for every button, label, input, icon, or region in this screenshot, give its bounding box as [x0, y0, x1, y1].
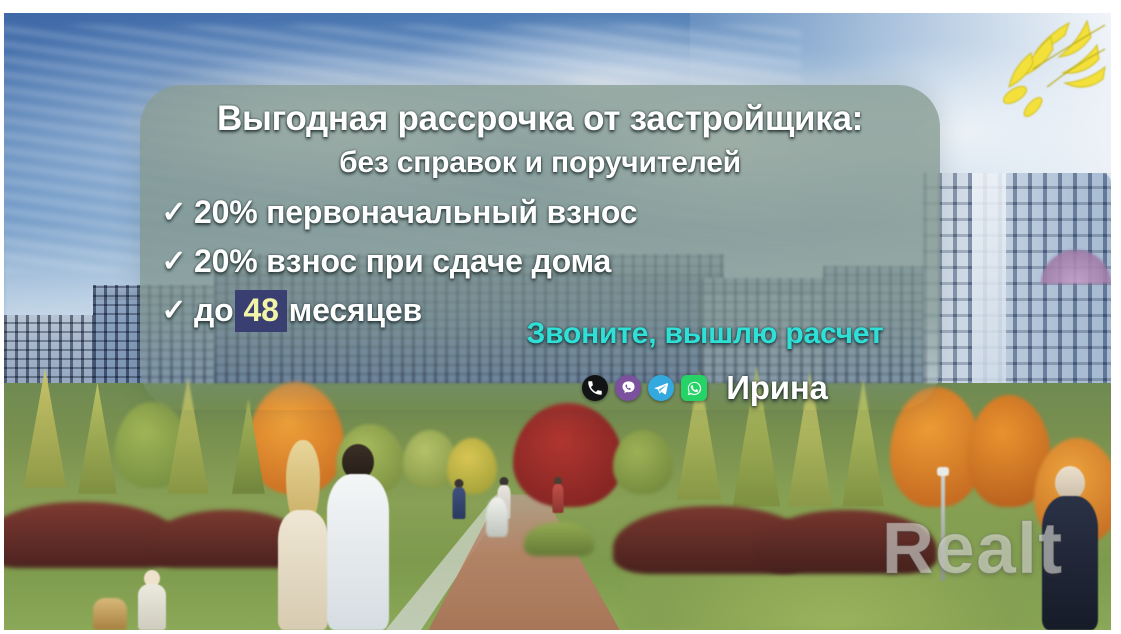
bullet-label-pre: до	[194, 292, 233, 329]
telegram-icon[interactable]	[648, 375, 674, 401]
offer-bullet-list: ✓ 20% первоначальный взнос ✓ 20% взнос п…	[154, 188, 637, 335]
list-item: ✓ 20% первоначальный взнос	[154, 188, 637, 237]
tree-green	[613, 430, 673, 494]
agent-name: Ирина	[726, 369, 827, 407]
person-woman-foreground	[275, 440, 331, 630]
autumn-leaves-top	[919, 19, 1109, 149]
body	[138, 584, 166, 630]
offer-headline: Выгодная рассрочка от застройщика:	[140, 99, 940, 139]
person-distant-c	[552, 477, 564, 513]
realt-watermark: Realt	[882, 508, 1063, 590]
bullet-label-post: месяцев	[289, 292, 422, 329]
offer-panel-content: Выгодная рассрочка от застройщика: без с…	[140, 85, 940, 410]
head	[1055, 466, 1085, 500]
stroller	[93, 598, 127, 630]
viber-icon[interactable]	[615, 375, 641, 401]
park-sculpture	[486, 497, 508, 537]
contact-channels: Ирина	[490, 369, 920, 407]
body	[278, 510, 328, 630]
offer-subheadline: без справок и поручителей	[140, 146, 940, 180]
phone-icon[interactable]	[582, 375, 608, 401]
person-man-foreground	[325, 444, 391, 630]
bullet-label: 20% взнос при сдаче дома	[194, 243, 611, 280]
call-to-action-text: Звоните, вышлю расчет	[490, 317, 920, 351]
body	[552, 484, 563, 513]
list-item: ✓ 20% взнос при сдаче дома	[154, 237, 637, 286]
term-months-highlight: 48	[235, 290, 286, 332]
hedge-green	[524, 522, 594, 556]
person-child-bottom-left	[137, 570, 167, 630]
bullet-label: 20% первоначальный взнос	[194, 194, 637, 231]
whatsapp-icon[interactable]	[681, 375, 707, 401]
background-photo: Выгодная рассрочка от застройщика: без с…	[4, 13, 1111, 630]
person-distant-a	[452, 479, 466, 519]
lamp-head	[937, 467, 949, 476]
check-icon: ✓	[154, 247, 194, 277]
body	[327, 474, 389, 630]
advertisement-banner: Выгодная рассрочка от застройщика: без с…	[0, 0, 1121, 634]
body	[453, 487, 466, 519]
check-icon: ✓	[154, 198, 194, 228]
check-icon: ✓	[154, 296, 194, 326]
